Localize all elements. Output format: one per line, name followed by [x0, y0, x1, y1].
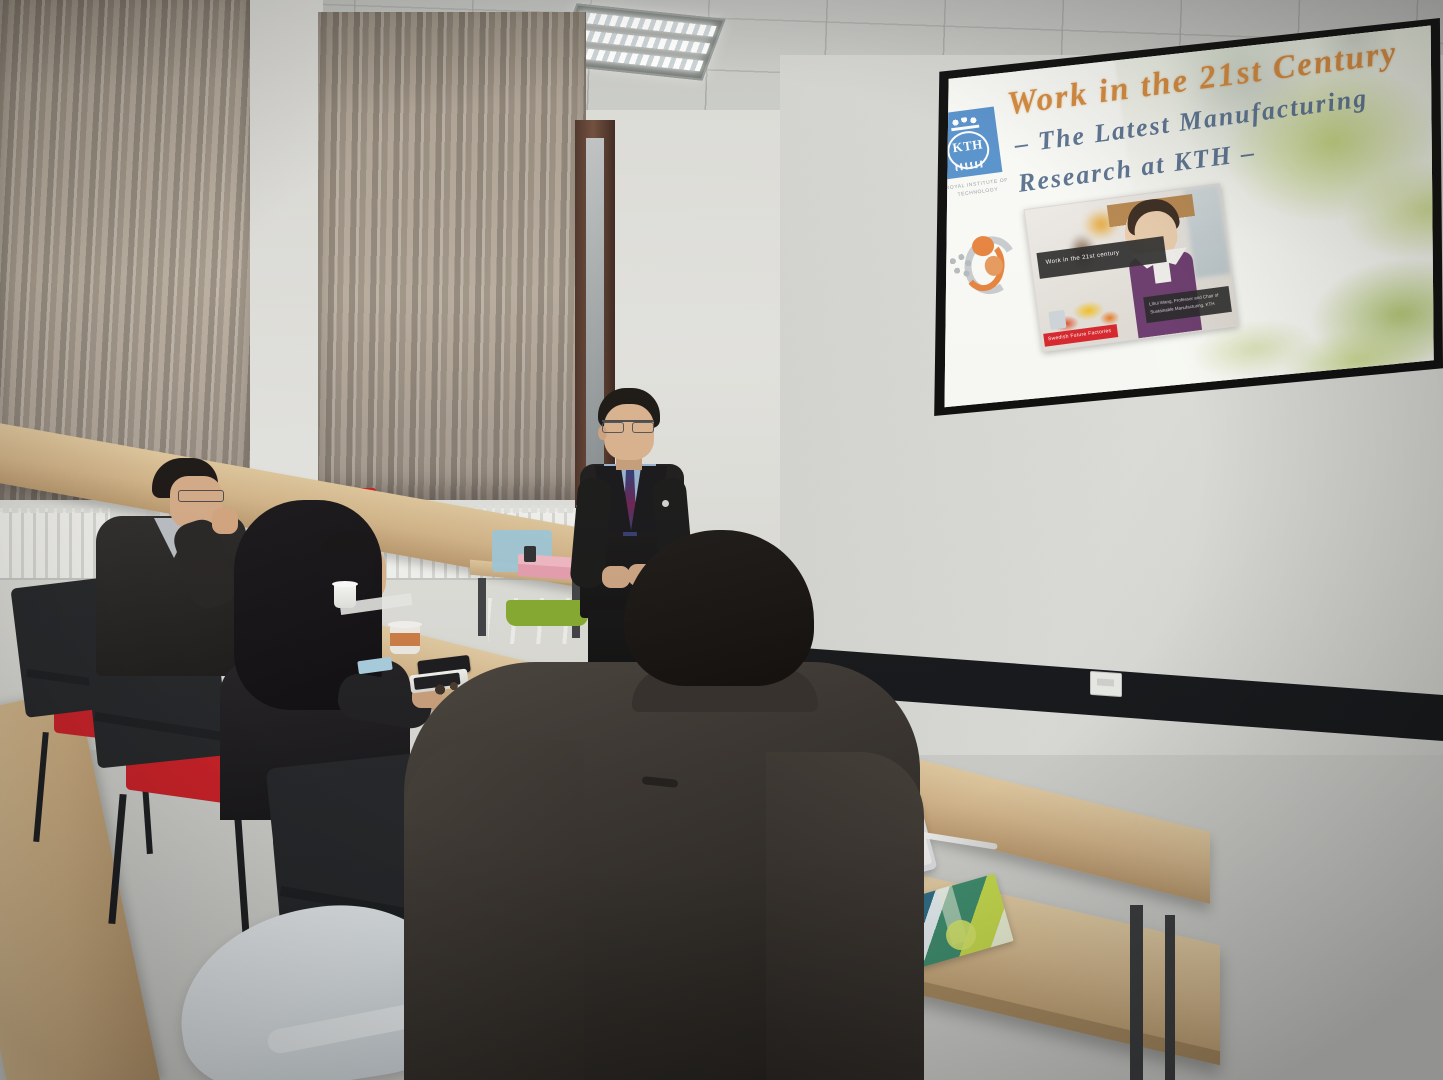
kth-logo-caption: ROYAL INSTITUTE OF TECHNOLOGY: [938, 176, 1017, 201]
curtain-left: [0, 0, 250, 500]
attendee-foreground-hair: [624, 530, 814, 686]
presentation-slide: KTH ROYAL INSTITUTE OF TECHNOLOGY Work i…: [928, 18, 1443, 416]
projection-screen: KTH ROYAL INSTITUTE OF TECHNOLOGY Work i…: [928, 18, 1443, 418]
radiator-1: [0, 508, 110, 580]
photo-caption-text: Lihui Wang, Professor and Chair of Susta…: [1149, 291, 1226, 316]
attendee-foreground: [404, 530, 924, 1080]
glasses-icon: [602, 420, 654, 432]
slide-photo-card: Work in the 21st century Lihui Wang, Pro…: [1024, 183, 1239, 352]
wall-outlet: [1090, 671, 1122, 697]
table-leg: [1130, 905, 1143, 1080]
photo-banner-text: Work in the 21st century: [1045, 250, 1119, 266]
curtain-right: [318, 12, 586, 500]
screen-surface: KTH ROYAL INSTITUTE OF TECHNOLOGY Work i…: [928, 18, 1443, 416]
lapel-badge: [662, 500, 669, 507]
wall-between-curtains: [245, 0, 323, 505]
orange-swirl-logo: [945, 232, 1012, 293]
meeting-room-photo: KTH ROYAL INSTITUTE OF TECHNOLOGY Work i…: [0, 0, 1443, 1080]
paper-cup-rim: [332, 581, 358, 587]
table-leg: [1165, 915, 1175, 1080]
attendee-seated-woman: [200, 500, 410, 800]
